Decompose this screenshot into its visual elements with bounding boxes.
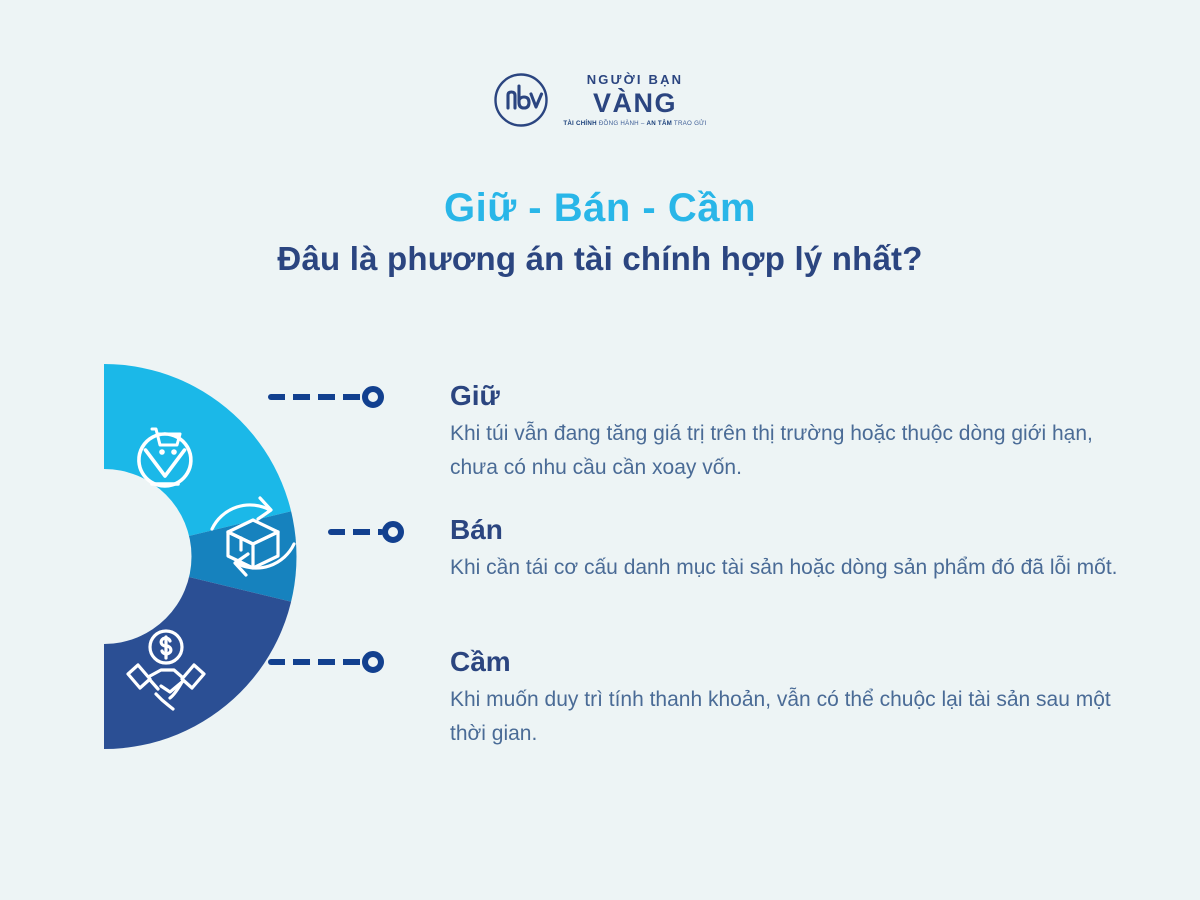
logo-tagline-part-4: TRAO GỬI (672, 120, 707, 127)
semicircle-segments-graphic (104, 364, 404, 749)
section-item-2: Bán Khi cần tái cơ cấu danh mục tài sản … (450, 513, 1150, 585)
brand-logo: NGƯỜI BẠN VÀNG TÀI CHÍNH ĐỒNG HÀNH – AN … (0, 72, 1200, 128)
logo-tagline-part-2: ĐỒNG HÀNH – (597, 120, 647, 127)
section-title-3: Cầm (450, 645, 1150, 679)
logo-wordmark: NGƯỜI BẠN VÀNG TÀI CHÍNH ĐỒNG HÀNH – AN … (563, 73, 706, 127)
section-body-2: Khi cần tái cơ cấu danh mục tài sản hoặc… (450, 551, 1140, 585)
connector-endpoint-3 (362, 651, 384, 673)
page-title: Giữ - Bán - Cầm (0, 185, 1200, 231)
connector-endpoint-2 (382, 521, 404, 543)
connector-line-1 (268, 386, 384, 408)
logo-tagline-part-1: TÀI CHÍNH (563, 120, 597, 127)
section-item-1: Giữ Khi túi vẫn đang tăng giá trị trên t… (450, 379, 1150, 485)
logo-line-1: NGƯỜI BẠN (587, 73, 684, 88)
connector-dashes-3 (268, 659, 364, 665)
logo-line-2: VÀNG (593, 89, 677, 117)
connector-endpoint-1 (362, 386, 384, 408)
nbv-monogram-icon (493, 72, 549, 128)
connector-dashes-2 (328, 529, 384, 535)
page-subtitle: Đâu là phương án tài chính hợp lý nhất? (0, 239, 1200, 279)
logo-tagline-part-3: AN TÂM (647, 120, 673, 127)
logo-tagline: TÀI CHÍNH ĐỒNG HÀNH – AN TÂM TRAO GỬI (563, 120, 706, 127)
section-title-2: Bán (450, 513, 1150, 547)
section-title-1: Giữ (450, 379, 1150, 413)
title-block: Giữ - Bán - Cầm Đâu là phương án tài chí… (0, 185, 1200, 279)
section-item-3: Cầm Khi muốn duy trì tính thanh khoản, v… (450, 645, 1150, 751)
section-body-3: Khi muốn duy trì tính thanh khoản, vẫn c… (450, 683, 1140, 751)
section-body-1: Khi túi vẫn đang tăng giá trị trên thị t… (450, 417, 1140, 485)
connector-line-3 (268, 651, 384, 673)
connector-line-2 (328, 521, 404, 543)
connector-dashes-1 (268, 394, 364, 400)
